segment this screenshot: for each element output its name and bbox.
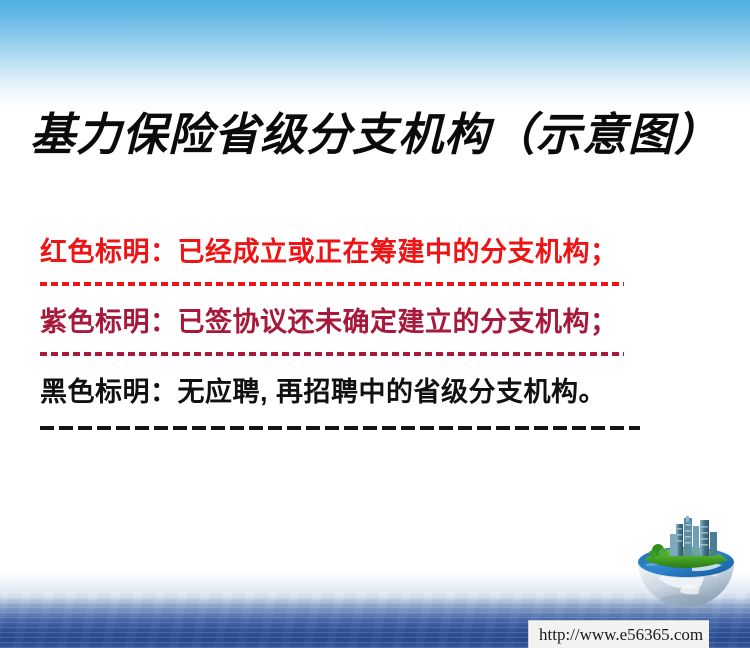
legend-row-black: 黑色标明：无应聘, 再招聘中的省级分支机构。: [40, 372, 700, 430]
legend-row-purple: 紫色标明：已签协议还未确定建立的分支机构；: [40, 302, 700, 356]
legend-label-black: 黑色标明：无应聘, 再招聘中的省级分支机构。: [40, 372, 700, 412]
legend-divider-purple: [40, 352, 624, 356]
sky-gradient-background: [0, 0, 750, 110]
globe-city-logo-icon: [630, 516, 742, 616]
slide-title: 基力保险省级分支机构（示意图）: [0, 98, 750, 163]
legend-row-red: 红色标明：已经成立或正在筹建中的分支机构；: [40, 232, 700, 286]
site-url-text: http://www.e56365.com: [539, 625, 703, 645]
slide-canvas: 基力保险省级分支机构（示意图） 红色标明：已经成立或正在筹建中的分支机构； 紫色…: [0, 0, 750, 648]
legend-label-red: 红色标明：已经成立或正在筹建中的分支机构；: [40, 232, 700, 272]
legend-block: 红色标明：已经成立或正在筹建中的分支机构； 紫色标明：已签协议还未确定建立的分支…: [40, 232, 700, 446]
legend-divider-red: [40, 282, 624, 286]
site-url-watermark: http://www.e56365.com: [528, 620, 709, 648]
legend-label-purple: 紫色标明：已签协议还未确定建立的分支机构；: [40, 302, 700, 342]
legend-divider-black: [40, 426, 640, 430]
